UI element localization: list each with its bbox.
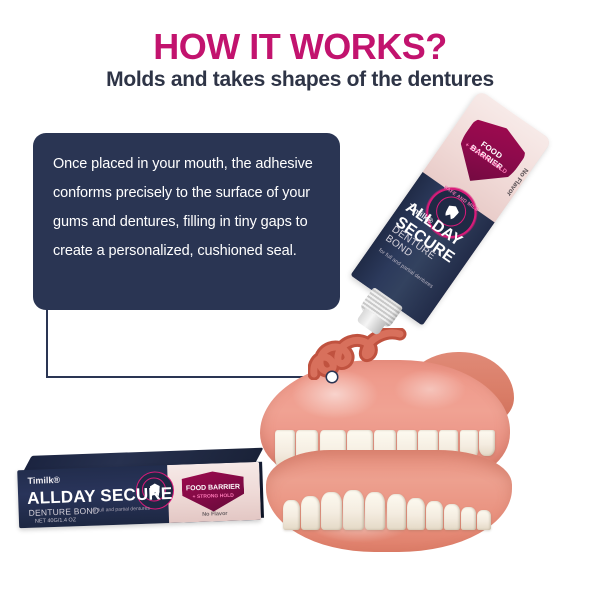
- product-carton: FOOD BARRIER + STRONG HOLD No Flavor Tim…: [17, 448, 265, 535]
- callout-pointer-dot: [327, 372, 337, 382]
- carton-shield-line2: + STRONG HOLD: [182, 492, 244, 500]
- callout-text: Once placed in your mouth, the adhesive …: [53, 150, 320, 266]
- callout-box: Once placed in your mouth, the adhesive …: [33, 133, 340, 310]
- product-tube: FOOD BARRIER + STRONG HOLD No Flavor SAF…: [332, 90, 552, 352]
- carton-brand: Timilk®: [27, 475, 60, 486]
- carton-front-face: FOOD BARRIER + STRONG HOLD No Flavor Tim…: [17, 462, 261, 528]
- infographic-page: HOW IT WORKS? Molds and takes shapes of …: [0, 0, 600, 600]
- carton-pink-panel: FOOD BARRIER + STRONG HOLD No Flavor: [167, 462, 261, 523]
- tube-body: FOOD BARRIER + STRONG HOLD No Flavor SAF…: [350, 90, 552, 326]
- food-barrier-shield-icon: FOOD BARRIER + STRONG HOLD: [445, 111, 532, 199]
- carton-net-weight: NET 40G/1.4 OZ: [35, 517, 76, 524]
- denture-model-photo: [252, 330, 520, 565]
- carton-fine-print: for full and partial dentures: [91, 506, 150, 514]
- page-title: HOW IT WORKS?: [0, 26, 600, 68]
- food-barrier-shield-icon: FOOD BARRIER + STRONG HOLD: [181, 470, 244, 512]
- tube-shield-line1: FOOD BARRIER: [458, 129, 519, 179]
- denture-lower-teeth: [274, 480, 500, 530]
- carton-product-subtitle: DENTURE BOND: [29, 505, 100, 517]
- page-subtitle: Molds and takes shapes of the dentures: [0, 68, 600, 92]
- carton-flavor-note: No Flavor: [169, 510, 261, 519]
- carton-shield-line1: FOOD BARRIER: [182, 483, 244, 492]
